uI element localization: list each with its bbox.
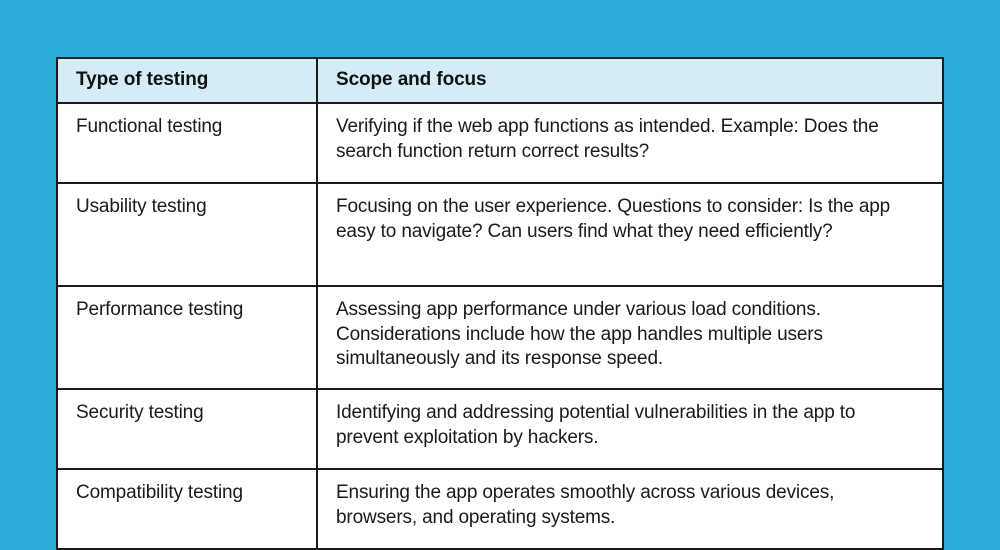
table-row: Compatibility testing Ensuring the app o… <box>58 469 942 548</box>
table-row: Functional testing Verifying if the web … <box>58 103 942 183</box>
column-header-scope-and-focus: Scope and focus <box>317 59 942 103</box>
table-row: Security testing Identifying and address… <box>58 389 942 469</box>
table-header: Type of testing Scope and focus <box>58 59 942 103</box>
cell-type-compatibility-testing: Compatibility testing <box>58 469 317 548</box>
cell-scope-usability-testing: Focusing on the user experience. Questio… <box>317 183 942 286</box>
cell-type-security-testing: Security testing <box>58 389 317 469</box>
column-header-type-of-testing: Type of testing <box>58 59 317 103</box>
cell-scope-security-testing: Identifying and addressing potential vul… <box>317 389 942 469</box>
testing-types-table-container: Type of testing Scope and focus Function… <box>56 57 944 550</box>
table-header-row: Type of testing Scope and focus <box>58 59 942 103</box>
cell-type-usability-testing: Usability testing <box>58 183 317 286</box>
cell-type-functional-testing: Functional testing <box>58 103 317 183</box>
table-row: Usability testing Focusing on the user e… <box>58 183 942 286</box>
cell-type-performance-testing: Performance testing <box>58 286 317 389</box>
cell-scope-performance-testing: Assessing app performance under various … <box>317 286 942 389</box>
cell-scope-compatibility-testing: Ensuring the app operates smoothly acros… <box>317 469 942 548</box>
table-body: Functional testing Verifying if the web … <box>58 103 942 548</box>
page-canvas: Type of testing Scope and focus Function… <box>0 0 1000 530</box>
testing-types-table: Type of testing Scope and focus Function… <box>58 59 942 548</box>
cell-scope-functional-testing: Verifying if the web app functions as in… <box>317 103 942 183</box>
table-row: Performance testing Assessing app perfor… <box>58 286 942 389</box>
